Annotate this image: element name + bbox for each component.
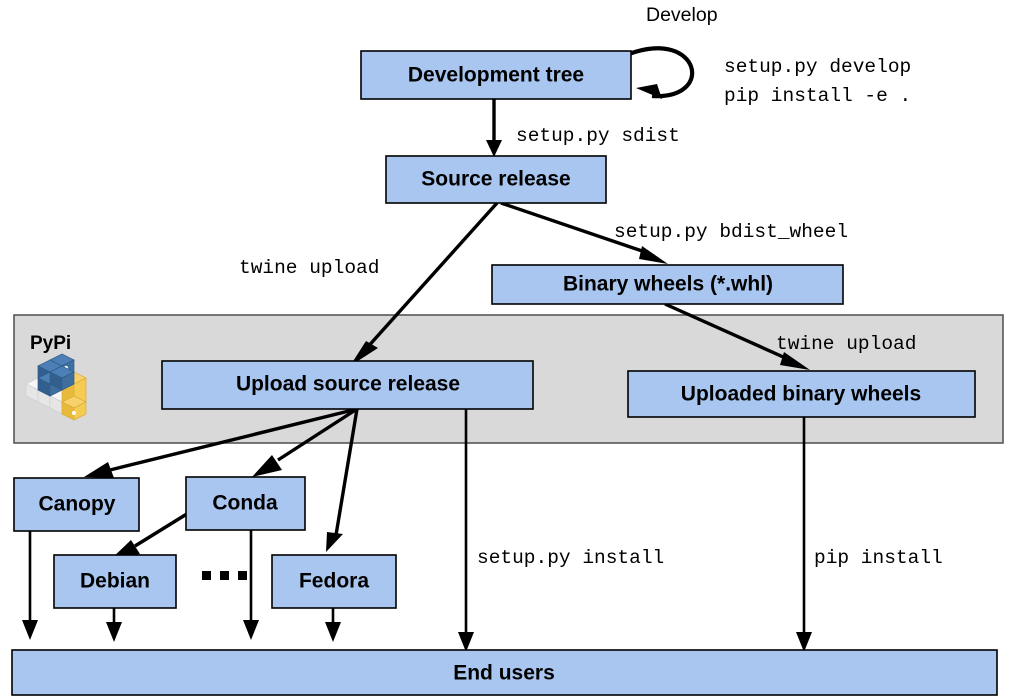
edge-label-twine-upload-left: twine upload: [239, 257, 379, 279]
arrow-head-canopy: [84, 462, 114, 478]
source-release-label: Source release: [421, 168, 570, 191]
arrow-head-debian-endusers: [106, 622, 122, 642]
edge-label-pip-install-editable: pip install -e .: [724, 85, 911, 107]
node-development-tree[interactable]: Development tree: [361, 51, 631, 99]
node-source-release[interactable]: Source release: [386, 156, 606, 203]
development-tree-label: Development tree: [408, 64, 584, 87]
node-canopy[interactable]: Canopy: [14, 478, 139, 531]
packaging-flow-diagram: PyPi: [0, 0, 1009, 698]
edge-label-setup-develop: setup.py develop: [724, 56, 911, 78]
node-conda[interactable]: Conda: [186, 477, 305, 530]
edge-conda-to-endusers: [243, 530, 259, 640]
upload-source-release-label: Upload source release: [236, 373, 460, 396]
node-fedora[interactable]: Fedora: [272, 555, 396, 608]
node-uploaded-binary-wheels[interactable]: Uploaded binary wheels: [628, 371, 975, 417]
edge-debian-to-endusers: [106, 608, 122, 642]
node-binary-wheels[interactable]: Binary wheels (*.whl): [492, 265, 843, 304]
diagram-canvas: PyPi: [0, 0, 1009, 698]
fedora-label: Fedora: [299, 570, 369, 593]
debian-label: Debian: [80, 570, 150, 593]
edge-label-pip-install: pip install: [814, 547, 943, 569]
node-end-users[interactable]: End users: [12, 650, 997, 695]
edge-develop-loop: [629, 48, 692, 99]
node-upload-source-release[interactable]: Upload source release: [162, 361, 533, 409]
uploaded-binary-wheels-label: Uploaded binary wheels: [681, 383, 921, 406]
arrow-head-setup-install: [458, 632, 474, 652]
arrow-head-conda-endusers: [243, 620, 259, 640]
arrow-head-bdist-wheel: [639, 246, 668, 264]
edge-canopy-to-endusers: [22, 531, 38, 640]
arrow-head-fedora-endusers: [325, 622, 341, 642]
edge-fedora-to-endusers: [325, 608, 341, 642]
arrow-head-fedora: [326, 532, 343, 552]
edge-uploaded-wheels-to-endusers: [796, 417, 812, 652]
arrow-head-sdist: [486, 140, 502, 157]
binary-wheels-label: Binary wheels (*.whl): [563, 273, 773, 296]
conda-label: Conda: [212, 492, 278, 515]
edge-label-setup-install: setup.py install: [477, 547, 664, 569]
canopy-label: Canopy: [38, 493, 115, 516]
edge-label-twine-upload-right: twine upload: [776, 333, 916, 355]
edge-dev-to-source: [486, 99, 502, 157]
pypi-group-label: PyPi: [30, 333, 71, 354]
ellipsis-indicator: [202, 571, 247, 580]
node-debian[interactable]: Debian: [54, 555, 176, 608]
edge-label-setup-bdist-wheel: setup.py bdist_wheel: [614, 221, 848, 243]
arrow-head-pip-install: [796, 632, 812, 652]
arrow-head-develop: [636, 84, 662, 99]
edge-upload-source-to-endusers: [458, 409, 474, 652]
edge-label-setup-sdist: setup.py sdist: [516, 125, 680, 147]
end-users-label: End users: [453, 662, 555, 685]
arrow-head-canopy-endusers: [22, 620, 38, 640]
edge-label-develop: Develop: [646, 4, 718, 26]
